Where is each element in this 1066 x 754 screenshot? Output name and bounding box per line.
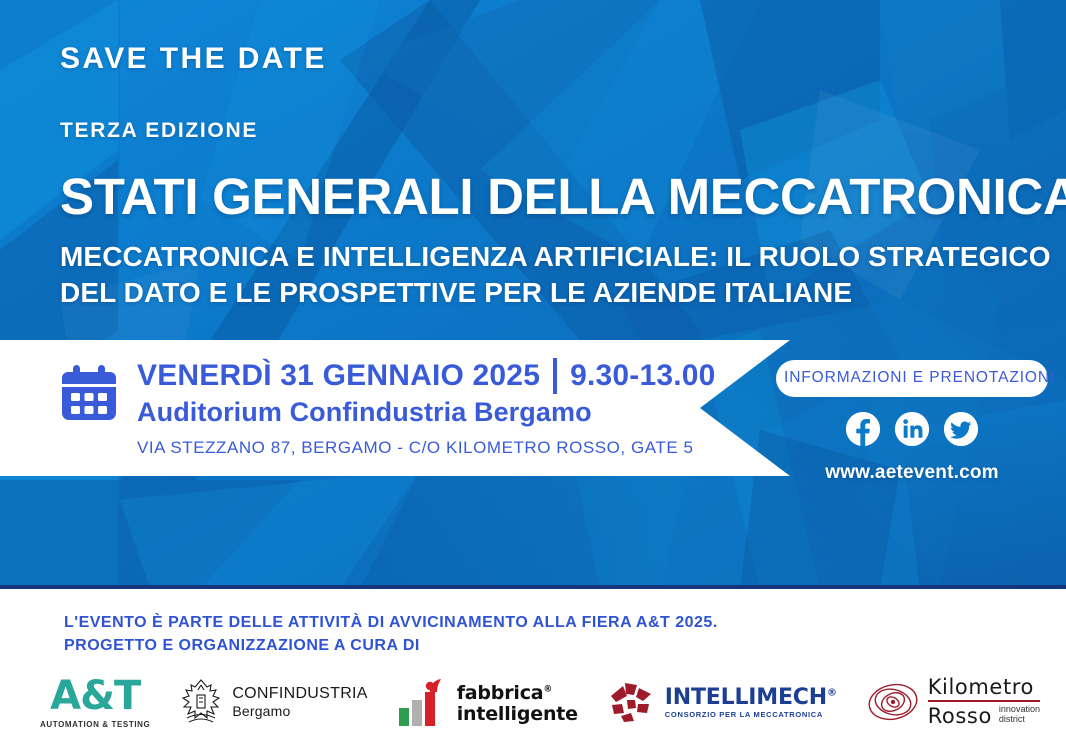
confindustria-name: CONFINDUSTRIA bbox=[232, 685, 367, 703]
intellimech-registered-mark: ® bbox=[827, 687, 837, 698]
headline-stack: SAVE THE DATE TERZA EDIZIONE STATI GENER… bbox=[60, 44, 1040, 312]
twitter-icon[interactable] bbox=[944, 412, 978, 446]
footer-note-line-1: L'EVENTO È PARTE DELLE ATTIVITÀ DI AVVIC… bbox=[64, 611, 718, 634]
fabbrica-word: fabbrica bbox=[457, 682, 544, 704]
fabbrica-registered-mark: ® bbox=[543, 685, 552, 695]
footer: L'EVENTO È PARTE DELLE ATTIVITÀ DI AVVIC… bbox=[0, 589, 1066, 754]
fabbrica-bars-icon bbox=[397, 678, 447, 726]
page-subtitle: MECCATRONICA E INTELLIGENZA ARTIFICIALE:… bbox=[60, 239, 1040, 312]
kilometro-line-2: Rosso bbox=[928, 706, 992, 727]
confindustria-eagle-icon bbox=[179, 677, 223, 727]
logo-confindustria: CONFINDUSTRIA Bergamo bbox=[179, 677, 367, 727]
confindustria-wordmark: CONFINDUSTRIA Bergamo bbox=[232, 685, 367, 719]
kilometro-sub-1: innovation bbox=[999, 704, 1040, 714]
kilometro-descriptor: innovation district bbox=[999, 704, 1040, 727]
kilometro-rosso-wordmark: Kilometro Rosso innovation district bbox=[928, 677, 1040, 726]
kilometro-rule bbox=[928, 700, 1040, 702]
intellimech-wordmark: INTELLIMECH® CONSORZIO PER LA MECCATRONI… bbox=[665, 686, 837, 719]
subtitle-line-1: MECCATRONICA E INTELLIGENZA ARTIFICIALE:… bbox=[60, 239, 1040, 275]
event-venue: Auditorium Confindustria Bergamo bbox=[137, 396, 716, 429]
logo-intellimech: INTELLIMECH® CONSORZIO PER LA MECCATRONI… bbox=[607, 680, 837, 724]
event-poster: SAVE THE DATE TERZA EDIZIONE STATI GENER… bbox=[0, 0, 1066, 754]
kilometro-row-2: Rosso innovation district bbox=[928, 704, 1040, 727]
edition-label: TERZA EDIZIONE bbox=[60, 120, 1040, 141]
logo-fabbrica-intelligente: fabbrica® intelligente bbox=[397, 678, 578, 726]
at-tagline: AUTOMATION & TESTING bbox=[40, 720, 150, 729]
subtitle-line-2: DEL DATO E LE PROSPETTIVE PER LE AZIENDE… bbox=[60, 275, 1040, 311]
page-title: STATI GENERALI DELLA MECCATRONICA bbox=[60, 171, 1040, 223]
linkedin-icon[interactable] bbox=[895, 412, 929, 446]
kilometro-rosso-swirl-icon bbox=[866, 677, 920, 727]
footer-note: L'EVENTO È PARTE DELLE ATTIVITÀ DI AVVIC… bbox=[64, 611, 718, 657]
event-date: VENERDÌ 31 GENNAIO 2025 bbox=[137, 360, 540, 392]
intellimech-word: INTELLIMECH bbox=[665, 685, 827, 710]
calendar-icon bbox=[58, 364, 120, 426]
partner-logos: A&T AUTOMATION & TESTING CONFINDU bbox=[40, 671, 1040, 733]
footer-note-line-2: PROGETTO E ORGANIZZAZIONE A CURA DI bbox=[64, 634, 718, 657]
datetime-divider bbox=[553, 358, 557, 394]
intellimech-tagline: CONSORZIO PER LA MECCATRONICA bbox=[665, 711, 837, 719]
fabbrica-line-1: fabbrica® bbox=[457, 683, 578, 704]
confindustria-city: Bergamo bbox=[232, 703, 367, 719]
info-and-booking-button[interactable]: INFORMAZIONI E PRENOTAZIONI bbox=[776, 360, 1048, 397]
kilometro-line-1: Kilometro bbox=[928, 677, 1040, 698]
event-time: 9.30-13.00 bbox=[570, 360, 715, 392]
website-link[interactable]: www.aetevent.com bbox=[776, 462, 1048, 484]
facebook-icon[interactable] bbox=[846, 412, 880, 446]
fabbrica-line-2: intelligente bbox=[457, 704, 578, 725]
intellimech-name: INTELLIMECH® bbox=[665, 686, 837, 709]
at-wordmark: A&T bbox=[40, 676, 150, 716]
logo-at: A&T AUTOMATION & TESTING bbox=[40, 676, 150, 729]
eyebrow-save-the-date: SAVE THE DATE bbox=[60, 44, 1040, 74]
kilometro-sub-2: district bbox=[999, 714, 1040, 724]
event-datetime-row: VENERDÌ 31 GENNAIO 2025 9.30-13.00 bbox=[137, 358, 716, 394]
intellimech-mark-icon bbox=[607, 680, 657, 724]
event-address: VIA STEZZANO 87, BERGAMO - C/O KILOMETRO… bbox=[137, 438, 716, 458]
social-links bbox=[776, 412, 1048, 446]
cta-column: INFORMAZIONI E PRENOTAZIONI bbox=[776, 360, 1048, 484]
fabbrica-wordmark: fabbrica® intelligente bbox=[457, 683, 578, 726]
logo-kilometro-rosso: Kilometro Rosso innovation district bbox=[866, 677, 1040, 727]
event-info-text: VENERDÌ 31 GENNAIO 2025 9.30-13.00 Audit… bbox=[137, 358, 716, 458]
